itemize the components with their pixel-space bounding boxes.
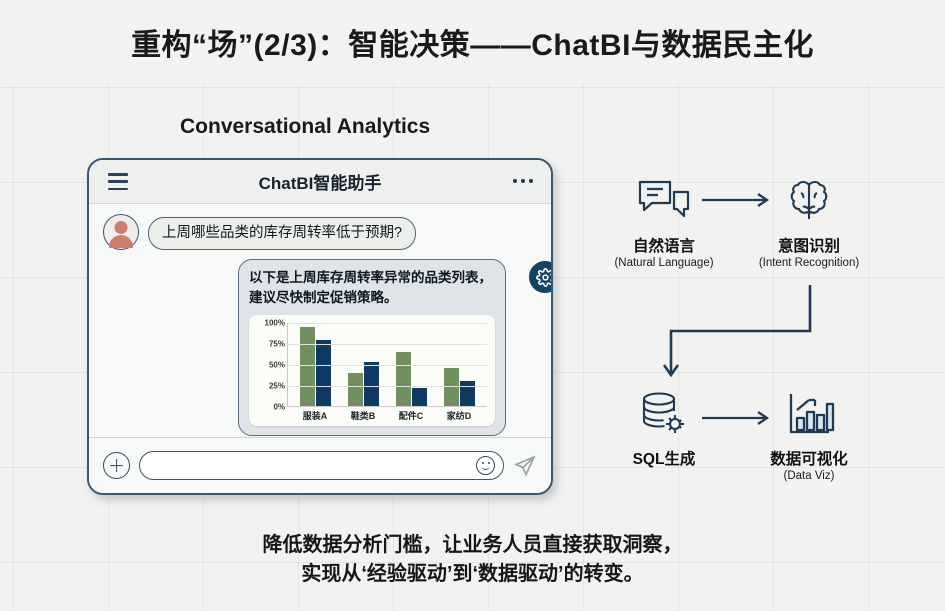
slide-canvas: 重构“场”(2/3)：智能决策——ChatBI与数据民主化 Conversati…: [0, 0, 945, 611]
chart-bar: [396, 352, 411, 406]
user-message-bubble: 上周哪些品类的库存周转率低于预期?: [148, 217, 416, 250]
message-input[interactable]: [151, 459, 476, 473]
chat-window: ChatBI智能助手 上周哪些品类的库存周转率低于预期? 以下是上周库存周转率异…: [87, 158, 553, 495]
user-message-row: 上周哪些品类的库存周转率低于预期?: [103, 214, 537, 250]
gear-icon: [528, 260, 553, 294]
chart-x-tick: 配件C: [394, 409, 428, 422]
plus-circle-icon[interactable]: [103, 452, 130, 479]
flow-node-data-visualization: 数据可视化 (Data Viz): [739, 385, 879, 482]
chat-header: ChatBI智能助手: [89, 160, 551, 204]
chart-bar: [460, 381, 475, 406]
caption-line-1: 降低数据分析门槛，让业务人员直接获取洞察，: [0, 531, 945, 560]
chart-gridline: [288, 323, 487, 324]
chat-input-bar: [89, 437, 551, 493]
arrow-ir-to-sql: [655, 281, 825, 386]
chart-bar: [300, 327, 315, 406]
chart-gridline: [288, 386, 487, 387]
chart-y-tick: 100%: [265, 319, 285, 328]
chart-y-tick: 0%: [273, 403, 285, 412]
chart-bar: [364, 362, 379, 407]
flow-node-natural-language: 自然语言 (Natural Language): [594, 172, 734, 269]
page-title: 重构“场”(2/3)：智能决策——ChatBI与数据民主化: [131, 20, 814, 64]
assistant-message-text: 以下是上周库存周转率异常的品类列表，建议尽快制定促销策略。: [249, 268, 495, 307]
flow-label-cn: 意图识别: [739, 234, 879, 256]
chart-bar: [444, 368, 459, 406]
chart-plot: [287, 323, 487, 407]
chart-y-axis: 100%75%50%25%0%: [255, 323, 287, 407]
smiley-icon[interactable]: [476, 456, 495, 475]
flow-label-cn: 自然语言: [594, 234, 734, 256]
arrow-nl-to-ir: [700, 190, 776, 210]
title-band: 重构“场”(2/3)：智能决策——ChatBI与数据民主化: [0, 0, 945, 84]
slide-caption: 降低数据分析门槛，让业务人员直接获取洞察， 实现从‘经验驱动’到‘数据驱动’的转…: [0, 531, 945, 589]
section-heading: Conversational Analytics: [180, 115, 430, 139]
chart-y-tick: 50%: [269, 361, 285, 370]
chart-bar: [316, 340, 331, 406]
chart-gridline: [288, 344, 487, 345]
chart-x-tick: 鞋类B: [346, 409, 380, 422]
hamburger-icon[interactable]: [108, 173, 128, 190]
chart-x-tick: 服装A: [298, 409, 332, 422]
chart-y-tick: 75%: [269, 340, 285, 349]
caption-line-2: 实现从‘经验驱动’到‘数据驱动’的转变。: [0, 560, 945, 589]
arrow-sql-to-viz: [700, 408, 776, 428]
more-options-icon[interactable]: [513, 179, 533, 183]
user-avatar-icon: [103, 214, 139, 250]
chart-gridline: [288, 365, 487, 366]
message-input-wrapper[interactable]: [139, 451, 504, 480]
chart-bar: [412, 388, 427, 406]
flow-label-cn: 数据可视化: [739, 447, 879, 469]
assistant-message-bubble: 以下是上周库存周转率异常的品类列表，建议尽快制定促销策略。 100%75%50%…: [238, 259, 506, 436]
flow-label-en: (Intent Recognition): [739, 257, 879, 269]
chart-x-tick: 家纺D: [442, 409, 476, 422]
flow-node-intent-recognition: 意图识别 (Intent Recognition): [739, 172, 879, 269]
chat-message-list: 上周哪些品类的库存周转率低于预期? 以下是上周库存周转率异常的品类列表，建议尽快…: [89, 204, 551, 441]
chat-title: ChatBI智能助手: [89, 169, 551, 194]
chart-x-axis-labels: 服装A鞋类B配件C家纺D: [287, 407, 487, 422]
chart-bar: [348, 373, 363, 406]
send-paper-plane-icon[interactable]: [513, 454, 537, 478]
flow-label-en: (Natural Language): [594, 257, 734, 269]
assistant-message-row: 以下是上周库存周转率异常的品类列表，建议尽快制定促销策略。 100%75%50%…: [238, 259, 537, 436]
inline-chart-card: 100%75%50%25%0% 服装A鞋类B配件C家纺D: [249, 315, 495, 426]
flow-label-en: (Data Viz): [739, 470, 879, 482]
chart-plot-area: 100%75%50%25%0%: [255, 323, 487, 407]
chart-y-tick: 25%: [269, 382, 285, 391]
flow-label-cn: SQL生成: [594, 447, 734, 469]
